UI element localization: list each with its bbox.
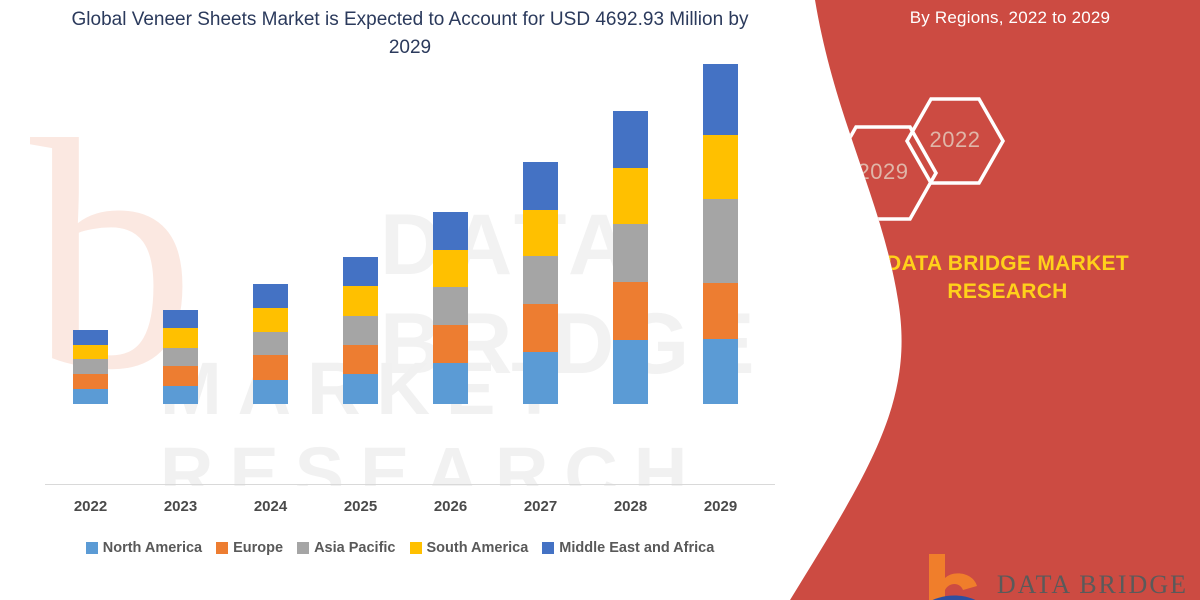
bar-segment-2028-asia-pacific[interactable] bbox=[613, 224, 648, 282]
bar-segment-2027-europe[interactable] bbox=[523, 304, 558, 352]
x-tick-2028: 2028 bbox=[586, 498, 676, 515]
bar-segment-2028-south-america[interactable] bbox=[613, 168, 648, 224]
bar-segment-2023-south-america[interactable] bbox=[163, 328, 198, 347]
legend-label: Asia Pacific bbox=[314, 540, 395, 556]
legend-label: South America bbox=[427, 540, 529, 556]
legend-item-north-america[interactable]: North America bbox=[86, 540, 202, 556]
bar-segment-2024-asia-pacific[interactable] bbox=[253, 332, 288, 355]
bar-2029[interactable] bbox=[703, 64, 738, 404]
bar-segment-2026-europe[interactable] bbox=[433, 325, 468, 363]
logo-title: DATA BRIDGE bbox=[997, 570, 1188, 600]
bar-segment-2029-asia-pacific[interactable] bbox=[703, 199, 738, 284]
x-axis-baseline bbox=[45, 484, 775, 485]
bar-segment-2022-middle-east-and-africa[interactable] bbox=[73, 330, 108, 345]
bar-segment-2029-europe[interactable] bbox=[703, 283, 738, 338]
logo-mark-icon bbox=[925, 552, 987, 600]
bar-segment-2027-north-america[interactable] bbox=[523, 352, 558, 405]
hexagon-2022-label: 2022 bbox=[905, 127, 1005, 153]
bar-segment-2026-south-america[interactable] bbox=[433, 250, 468, 287]
bar-2024[interactable] bbox=[253, 284, 288, 404]
bar-segment-2026-north-america[interactable] bbox=[433, 363, 468, 404]
legend-swatch-icon bbox=[297, 542, 309, 554]
plot-region: 20222023202420252026202720282029 bbox=[0, 0, 800, 520]
bar-2025[interactable] bbox=[343, 257, 378, 404]
bar-segment-2023-middle-east-and-africa[interactable] bbox=[163, 310, 198, 328]
legend-label: Middle East and Africa bbox=[559, 540, 714, 556]
chart-legend: North AmericaEuropeAsia PacificSouth Ame… bbox=[0, 540, 800, 556]
bar-segment-2023-north-america[interactable] bbox=[163, 386, 198, 404]
bar-segment-2025-europe[interactable] bbox=[343, 345, 378, 374]
bar-segment-2022-north-america[interactable] bbox=[73, 389, 108, 404]
legend-item-asia-pacific[interactable]: Asia Pacific bbox=[297, 540, 395, 556]
legend-item-south-america[interactable]: South America bbox=[410, 540, 529, 556]
bar-segment-2023-asia-pacific[interactable] bbox=[163, 348, 198, 366]
data-bridge-logo: DATA BRIDGE MARKET RESEARCH bbox=[925, 552, 1188, 600]
x-tick-2029: 2029 bbox=[676, 498, 766, 515]
legend-swatch-icon bbox=[216, 542, 228, 554]
bar-segment-2028-europe[interactable] bbox=[613, 282, 648, 339]
bar-segment-2026-middle-east-and-africa[interactable] bbox=[433, 212, 468, 251]
legend-item-europe[interactable]: Europe bbox=[216, 540, 283, 556]
legend-label: North America bbox=[103, 540, 202, 556]
x-axis-tick-labels: 20222023202420252026202720282029 bbox=[0, 498, 800, 522]
bar-segment-2024-south-america[interactable] bbox=[253, 308, 288, 332]
bar-segment-2024-europe[interactable] bbox=[253, 355, 288, 379]
bar-segment-2022-asia-pacific[interactable] bbox=[73, 359, 108, 374]
panel-heading: By Regions, 2022 to 2029 bbox=[780, 8, 1200, 28]
bar-segment-2029-south-america[interactable] bbox=[703, 135, 738, 199]
legend-label: Europe bbox=[233, 540, 283, 556]
bar-segment-2024-north-america[interactable] bbox=[253, 380, 288, 404]
legend-item-middle-east-and-africa[interactable]: Middle East and Africa bbox=[542, 540, 714, 556]
legend-swatch-icon bbox=[86, 542, 98, 554]
bar-2022[interactable] bbox=[73, 330, 108, 404]
logo-wordmark: DATA BRIDGE MARKET RESEARCH bbox=[997, 570, 1188, 600]
bar-segment-2025-middle-east-and-africa[interactable] bbox=[343, 257, 378, 286]
bar-segment-2028-north-america[interactable] bbox=[613, 340, 648, 404]
bar-segment-2025-south-america[interactable] bbox=[343, 286, 378, 315]
x-tick-2025: 2025 bbox=[316, 498, 406, 515]
bar-2023[interactable] bbox=[163, 310, 198, 404]
bar-segment-2022-south-america[interactable] bbox=[73, 345, 108, 360]
legend-swatch-icon bbox=[410, 542, 422, 554]
x-tick-2023: 2023 bbox=[136, 498, 226, 515]
bar-2028[interactable] bbox=[613, 111, 648, 404]
x-tick-2022: 2022 bbox=[46, 498, 136, 515]
bar-segment-2029-north-america[interactable] bbox=[703, 339, 738, 404]
bar-segment-2029-middle-east-and-africa[interactable] bbox=[703, 64, 738, 135]
x-tick-2026: 2026 bbox=[406, 498, 496, 515]
x-tick-2024: 2024 bbox=[226, 498, 316, 515]
bar-2026[interactable] bbox=[433, 212, 468, 404]
bar-segment-2023-europe[interactable] bbox=[163, 366, 198, 385]
bar-segment-2025-asia-pacific[interactable] bbox=[343, 316, 378, 345]
bar-segment-2026-asia-pacific[interactable] bbox=[433, 287, 468, 325]
bar-segment-2027-south-america[interactable] bbox=[523, 210, 558, 257]
bar-2027[interactable] bbox=[523, 162, 558, 404]
bar-segment-2025-north-america[interactable] bbox=[343, 374, 378, 404]
bar-segment-2024-middle-east-and-africa[interactable] bbox=[253, 284, 288, 307]
x-tick-2027: 2027 bbox=[496, 498, 586, 515]
bar-segment-2027-asia-pacific[interactable] bbox=[523, 256, 558, 304]
bar-segment-2028-middle-east-and-africa[interactable] bbox=[613, 111, 648, 167]
legend-swatch-icon bbox=[542, 542, 554, 554]
bar-segment-2022-europe[interactable] bbox=[73, 374, 108, 390]
bar-segment-2027-middle-east-and-africa[interactable] bbox=[523, 162, 558, 210]
hexagon-2022: 2022 bbox=[905, 95, 1005, 187]
